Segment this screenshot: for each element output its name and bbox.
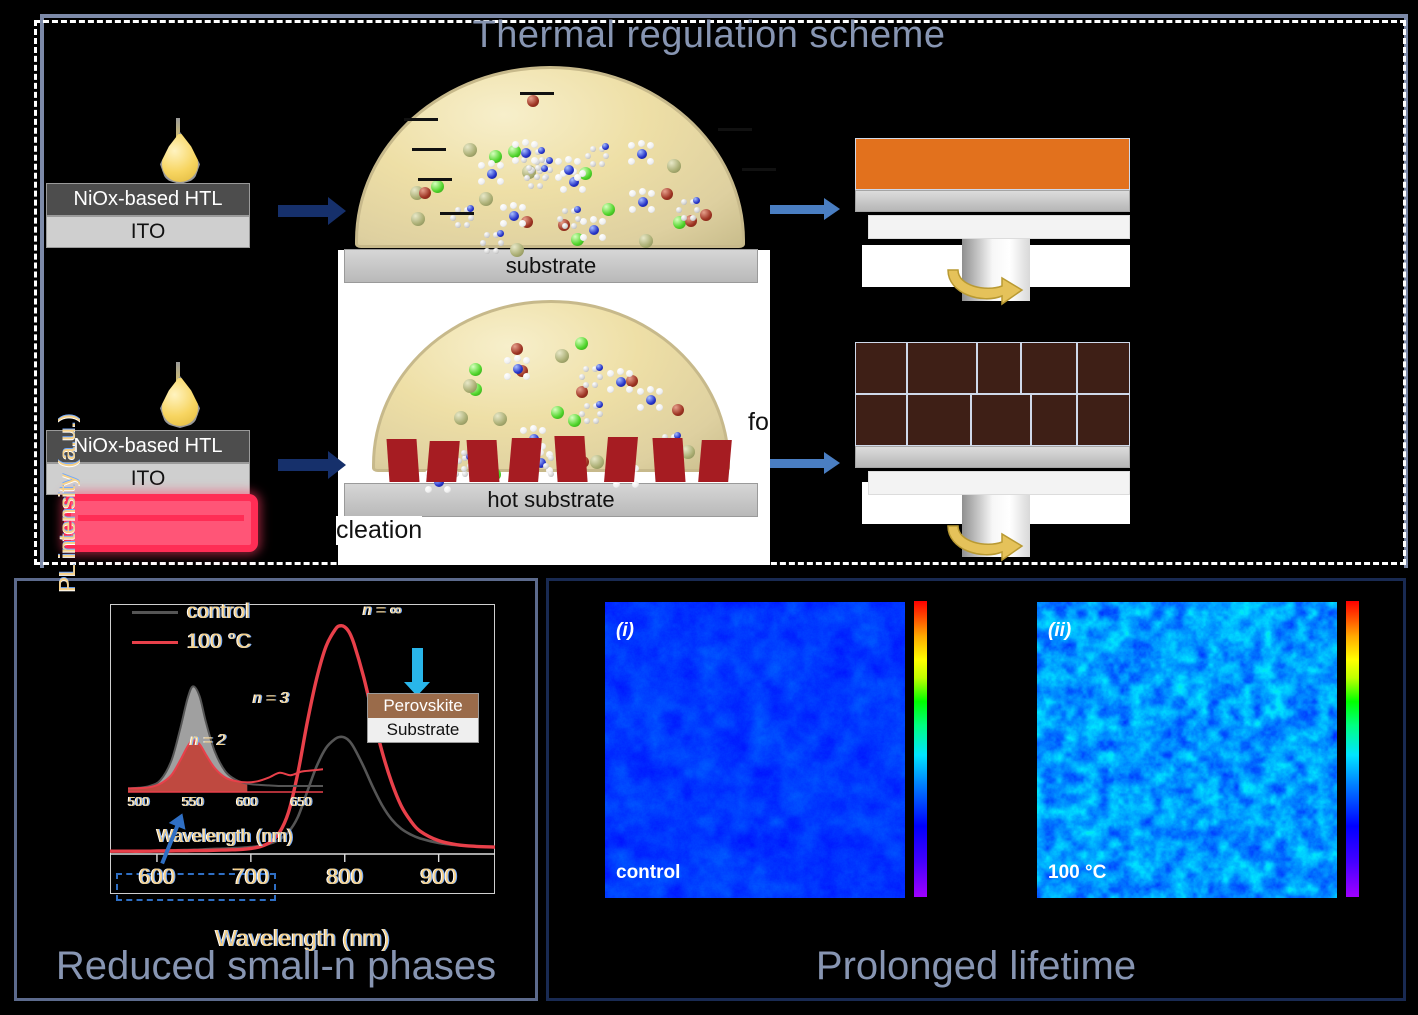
grain-boundary — [855, 342, 907, 394]
map-index-ii: (ii) — [1048, 620, 1071, 642]
nucleation-seed — [604, 437, 638, 482]
aromatic-spacer-molecule — [582, 142, 612, 168]
process-arrow-control — [278, 205, 330, 217]
device-legend-perovskite: Perovskite — [368, 694, 478, 718]
grain-boundary — [971, 394, 1031, 446]
x-tick-label: 900 — [417, 864, 461, 890]
nucleation-seed — [652, 438, 685, 482]
precursor-droplet-top — [160, 118, 196, 180]
cation-sphere — [639, 234, 653, 248]
map-label-heated: 100 °C — [1048, 862, 1106, 884]
result-arrow-heated — [770, 459, 826, 468]
inset-x-tick-label: 600 — [229, 794, 265, 809]
grain-boundary — [1077, 394, 1130, 446]
droplet-bulb — [160, 132, 200, 184]
figure-canvas: Thermal regulation scheme NiOx-based HTL… — [0, 0, 1418, 1015]
ammonium-molecule — [554, 156, 584, 182]
pl-lifetime-map-control — [604, 601, 906, 899]
cation-sphere — [667, 159, 681, 173]
grain-boundary — [907, 342, 977, 394]
callout-tick — [440, 212, 474, 215]
cation-sphere — [411, 212, 425, 226]
callout-tick — [404, 118, 438, 121]
occluded-nucleation-text: cleation — [336, 516, 422, 545]
device-legend-substrate: Substrate — [368, 718, 478, 742]
cation-sphere — [463, 379, 477, 393]
callout-tick — [520, 92, 554, 95]
glass-substrate-heated — [855, 446, 1130, 468]
aromatic-spacer-molecule — [673, 196, 703, 222]
nucleation-seed — [508, 438, 542, 482]
ammonium-molecule — [636, 386, 666, 412]
aromatic-spacer-molecule — [576, 363, 606, 389]
rotation-arrow-heated — [930, 508, 1060, 566]
ammonium-molecule — [499, 202, 529, 228]
callout-tick — [742, 168, 776, 171]
droplet-bulb — [160, 376, 200, 428]
process-arrow-heated — [278, 459, 330, 471]
pl-lifetime-map-heated — [1036, 601, 1338, 899]
glass-substrate-control — [855, 190, 1130, 212]
grain-boundary — [1021, 342, 1077, 394]
chuck-plate-control — [868, 215, 1130, 239]
aromatic-spacer-molecule — [447, 204, 477, 230]
substrate-stack-control: NiOx-based HTL ITO — [46, 183, 250, 248]
chloride-sphere — [551, 406, 564, 419]
x-tick-label: 600 — [135, 864, 179, 890]
ammonium-molecule — [477, 160, 507, 186]
precursor-droplet-bottom — [160, 362, 196, 424]
grain-boundary — [1031, 394, 1077, 446]
cation-sphere — [510, 243, 524, 257]
grain-boundary — [1077, 342, 1130, 394]
chuck-plate-heated — [868, 471, 1130, 495]
nucleation-seed — [554, 436, 587, 482]
ammonium-molecule — [606, 368, 636, 394]
perovskite-film-control — [855, 138, 1130, 190]
scheme-title: Thermal regulation scheme — [0, 14, 1418, 57]
hotplate-icon — [64, 494, 258, 552]
callout-tick — [412, 148, 446, 151]
map-index-i: (i) — [616, 620, 634, 642]
inset-x-tick-label: 550 — [175, 794, 211, 809]
colorbar-heated — [1346, 601, 1359, 897]
result-arrow-control — [770, 205, 826, 214]
aromatic-spacer-molecule — [554, 205, 584, 231]
ammonium-molecule — [628, 188, 658, 214]
ammonium-molecule — [627, 140, 657, 166]
substrate-label-control: substrate — [344, 249, 758, 283]
annotation-n-infinity: n = ∞ — [363, 602, 402, 620]
x-tick-label: 800 — [323, 864, 367, 890]
substrate-label-heated: hot substrate — [344, 483, 758, 517]
inset-x-tick-label: 650 — [283, 794, 319, 809]
inset-x-axis-label: Wavelength (nm) — [130, 826, 320, 847]
panel-left-caption: Reduced small-n phases — [14, 944, 538, 989]
cation-sphere — [479, 192, 493, 206]
nucleation-seed — [386, 439, 419, 482]
grain-boundary — [977, 342, 1021, 394]
rotation-arrow-control — [930, 252, 1060, 310]
occluded-formation-text: fo — [748, 408, 769, 437]
chloride-sphere — [431, 180, 444, 193]
nucleation-seed — [467, 440, 500, 482]
annotation-n2: n = 2 — [190, 732, 226, 750]
cation-sphere — [555, 349, 569, 363]
ammonium-molecule — [511, 139, 541, 165]
ito-layer-label: ITO — [46, 216, 250, 248]
htl-layer-label: NiOx-based HTL — [46, 183, 250, 216]
x-tick-label: 700 — [229, 864, 273, 890]
aromatic-spacer-molecule — [477, 229, 507, 255]
nucleation-seed — [426, 441, 460, 482]
iodide-sphere — [672, 404, 684, 416]
nucleation-seed — [698, 440, 732, 482]
aromatic-spacer-molecule — [576, 400, 606, 426]
device-stack-legend: Perovskite Substrate — [368, 694, 478, 742]
inset-x-tick-label: 500 — [121, 794, 157, 809]
map-label-control: control — [616, 862, 680, 884]
grain-boundary — [907, 394, 971, 446]
annotation-n3: n = 3 — [253, 690, 289, 708]
colorbar-control — [914, 601, 927, 897]
callout-tick — [718, 128, 752, 131]
grain-boundary — [855, 394, 907, 446]
y-axis-label: PL intensity (a.u.) — [54, 378, 81, 628]
device-pointer-arrow — [412, 648, 423, 682]
ammonium-molecule — [503, 355, 533, 381]
hotplate-element — [78, 515, 244, 521]
panel-right-caption: Prolonged lifetime — [546, 944, 1406, 989]
callout-tick — [418, 178, 452, 181]
cation-sphere — [454, 411, 468, 425]
